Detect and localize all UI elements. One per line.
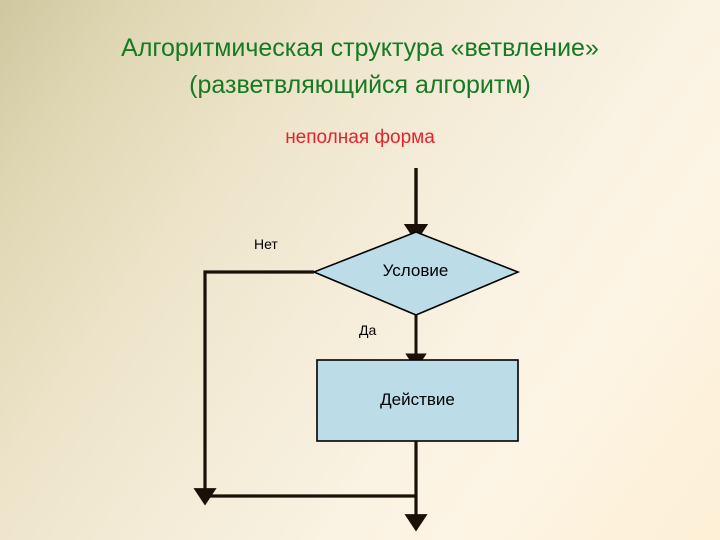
slide-canvas: Алгоритмическая структура «ветвление» (р… (0, 0, 720, 540)
condition-label: Условие (313, 261, 518, 281)
action-label: Действие (317, 390, 518, 410)
edge-label-yes: Да (359, 322, 376, 338)
no-branch-connector (205, 272, 314, 492)
edge-label-no: Нет (254, 236, 278, 252)
